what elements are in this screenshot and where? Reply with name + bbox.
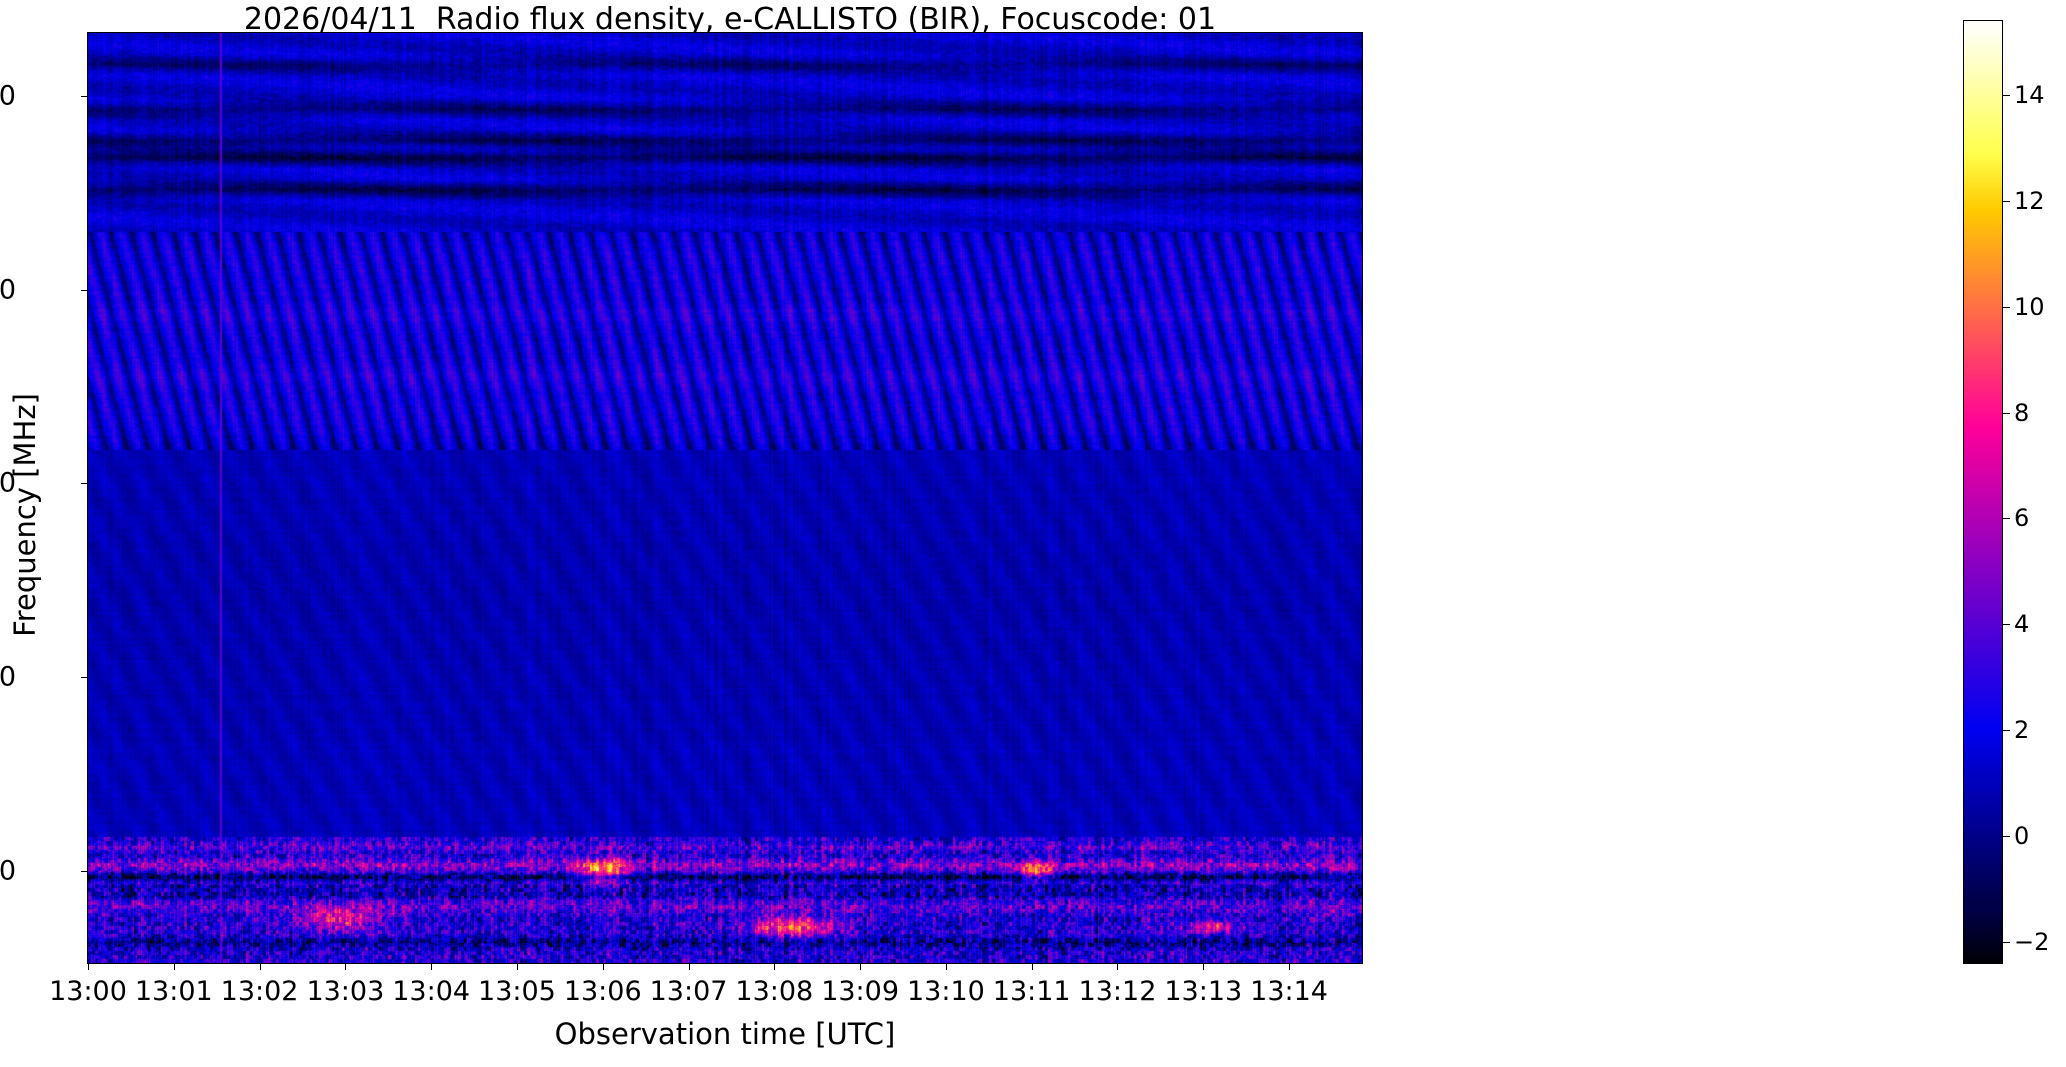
colorbar-tick-mark (2003, 836, 2010, 837)
colorbar-gradient (1964, 21, 2002, 963)
y-tick-mark (81, 871, 88, 872)
colorbar-tick-mark (2003, 942, 2010, 943)
x-tick-mark (860, 963, 861, 970)
colorbar-tick-mark (2003, 95, 2010, 96)
colorbar-tick-mark (2003, 730, 2010, 731)
x-tick-mark (946, 963, 947, 970)
x-tick-mark (260, 963, 261, 970)
y-tick-label: 20 (0, 855, 16, 886)
x-tick-mark (774, 963, 775, 970)
colorbar-tick-label: −2 (2014, 928, 2066, 956)
colorbar-tick-label: 14 (2014, 81, 2066, 109)
colorbar-tick-mark (2003, 201, 2010, 202)
colorbar-tick-mark (2003, 307, 2010, 308)
spectrogram-axes (87, 32, 1363, 964)
y-axis-label: Frequency [MHz] (8, 255, 42, 775)
colorbar-tick-label: 2 (2014, 716, 2066, 744)
colorbar-tick-mark (2003, 624, 2010, 625)
x-tick-mark (1032, 963, 1033, 970)
x-tick-mark (1289, 963, 1290, 970)
y-tick-label: 100 (0, 80, 16, 111)
y-tick-mark (81, 96, 88, 97)
colorbar-tick-mark (2003, 518, 2010, 519)
colorbar (1963, 20, 2003, 964)
colorbar-tick-label: 0 (2014, 822, 2066, 850)
y-tick-mark (81, 483, 88, 484)
x-tick-label: 13:14 (1199, 976, 1379, 1007)
x-tick-mark (1117, 963, 1118, 970)
colorbar-tick-label: 8 (2014, 399, 2066, 427)
colorbar-tick-label: 12 (2014, 187, 2066, 215)
colorbar-tick-label: 4 (2014, 610, 2066, 638)
x-tick-mark (517, 963, 518, 970)
spectrogram-figure: 2026/04/11 Radio flux density, e-CALLIST… (0, 0, 2066, 1067)
colorbar-tick-label: 10 (2014, 293, 2066, 321)
y-tick-mark (81, 677, 88, 678)
x-tick-mark (689, 963, 690, 970)
spectrogram-image (88, 33, 1362, 963)
x-tick-mark (603, 963, 604, 970)
x-tick-mark (1203, 963, 1204, 970)
x-axis-label: Observation time [UTC] (88, 1017, 1362, 1051)
colorbar-tick-label: 6 (2014, 504, 2066, 532)
x-tick-mark (174, 963, 175, 970)
x-tick-mark (88, 963, 89, 970)
x-tick-mark (431, 963, 432, 970)
x-tick-mark (345, 963, 346, 970)
colorbar-tick-mark (2003, 413, 2010, 414)
y-tick-mark (81, 290, 88, 291)
